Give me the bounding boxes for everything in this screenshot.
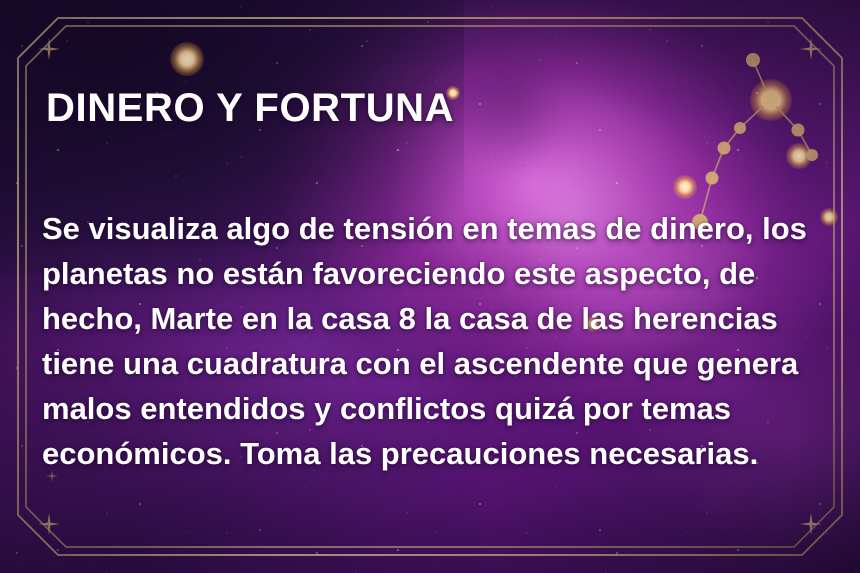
horoscope-card: DINERO Y FORTUNA Se visualiza algo de te… [0, 0, 860, 573]
card-content: DINERO Y FORTUNA Se visualiza algo de te… [46, 88, 836, 128]
card-body-text: Se visualiza algo de tensión en temas de… [42, 206, 842, 476]
page-title: DINERO Y FORTUNA [46, 88, 836, 128]
